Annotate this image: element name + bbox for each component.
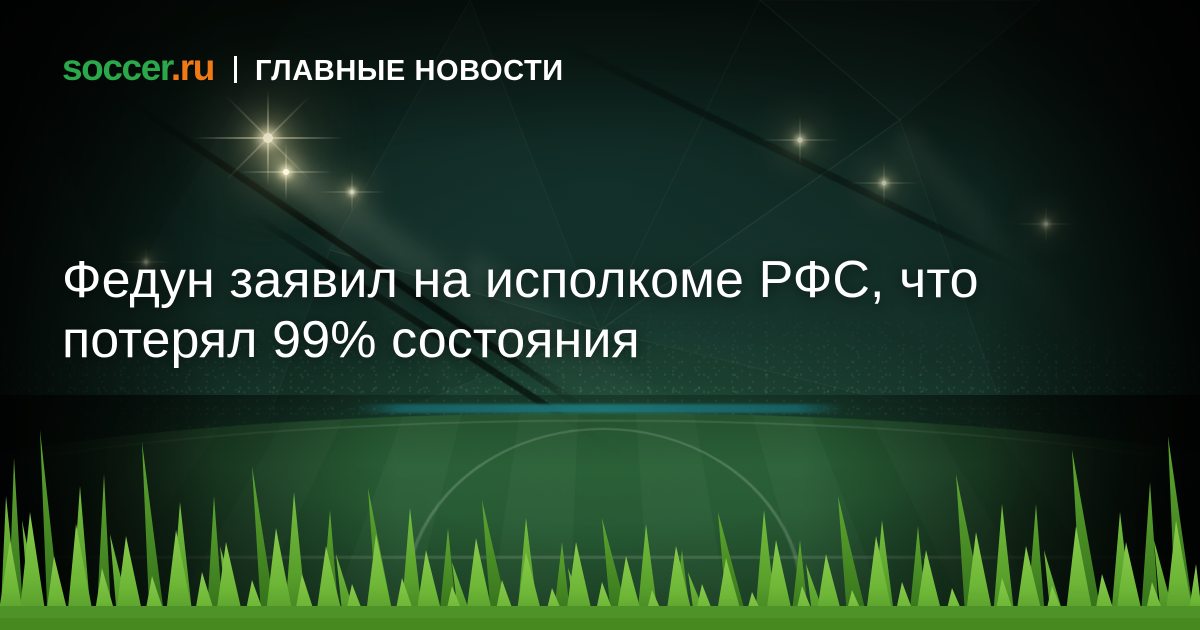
card-content: soccer.ru ГЛАВНЫЕ НОВОСТИ Федун заявил н… — [0, 0, 1200, 630]
article-headline: Федун заявил на исполкоме РФС, что потер… — [62, 250, 1152, 370]
logo-tld: .ru — [171, 47, 214, 88]
brand-bar: soccer.ru ГЛАВНЫЕ НОВОСТИ — [62, 49, 564, 86]
brand-separator — [234, 56, 237, 83]
section-kicker: ГЛАВНЫЕ НОВОСТИ — [255, 57, 564, 86]
logo-word: soccer — [62, 47, 171, 88]
site-logo[interactable]: soccer.ru — [62, 49, 214, 86]
news-share-card: soccer.ru ГЛАВНЫЕ НОВОСТИ Федун заявил н… — [0, 0, 1200, 630]
